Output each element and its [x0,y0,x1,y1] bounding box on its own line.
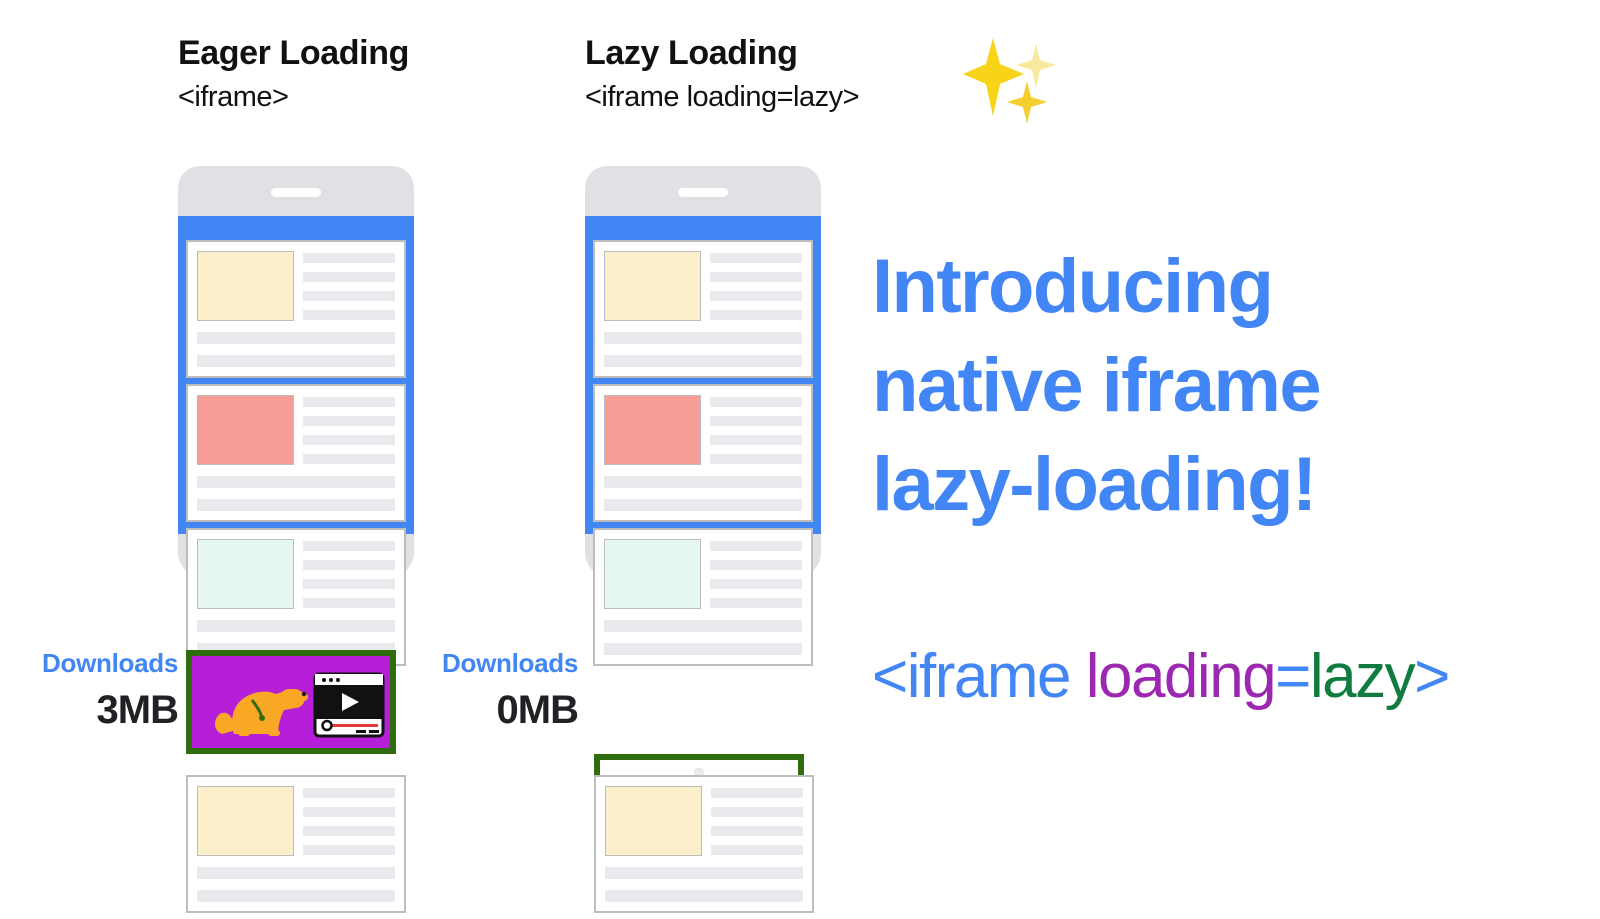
column-heading-lazy: Lazy Loading <iframe loading=lazy> [585,36,859,114]
loaded-iframe-graphic [192,656,390,748]
article-card [186,384,406,522]
eager-title: Eager Loading [178,36,409,72]
article-card-list-below [186,775,406,919]
code-tag-open: <iframe [872,642,1070,711]
article-card-list [186,240,406,672]
article-card [186,528,406,666]
lazy-code: <iframe loading=lazy> [585,82,859,114]
article-thumbnail [197,251,294,321]
article-card [593,528,813,666]
iframe-content-eager[interactable] [186,650,396,754]
phone-speaker-icon [678,188,728,197]
article-text-lines [710,539,802,609]
article-text-lines [303,251,395,321]
article-thumbnail [604,395,701,465]
article-card [594,775,814,913]
article-text-lines [710,395,802,465]
article-text-lines [710,251,802,321]
article-thumbnail [604,251,701,321]
article-card [186,775,406,913]
downloads-value: 0MB [400,690,578,730]
code-snippet: <iframe loading=lazy> [872,641,1449,712]
article-text-lines [303,539,395,609]
video-player-icon [315,674,383,736]
code-equals: = [1275,642,1310,711]
article-thumbnail [197,539,294,609]
article-thumbnail [605,786,702,856]
illustration-canvas: Eager Loading <iframe> Lazy Loading <ifr… [0,0,1600,919]
article-card-list-below [594,775,814,919]
eager-code: <iframe> [178,82,409,114]
article-card-list [593,240,813,672]
downloads-label: Downloads [0,650,178,676]
downloads-readout-eager: Downloads 3MB [0,650,178,730]
headline-line-3: lazy-loading! [872,436,1532,535]
article-card [186,240,406,378]
downloads-value: 3MB [0,690,178,730]
code-value: lazy [1310,642,1414,711]
lazy-title: Lazy Loading [585,36,859,72]
article-text-lines [303,395,395,465]
column-heading-eager: Eager Loading <iframe> [178,36,409,114]
page-headline: Introducing native iframe lazy-loading! [872,238,1532,534]
article-thumbnail [197,395,294,465]
sparkles-icon [960,30,1065,125]
code-tag-close: > [1414,642,1449,711]
article-text-lines [711,786,803,856]
article-card [593,384,813,522]
article-thumbnail [604,539,701,609]
article-text-lines [303,786,395,856]
article-card [593,240,813,378]
phone-speaker-icon [271,188,321,197]
downloads-label: Downloads [400,650,578,676]
article-thumbnail [197,786,294,856]
downloads-readout-lazy: Downloads 0MB [400,650,578,730]
headline-line-1: Introducing [872,238,1532,337]
code-attribute: loading [1070,642,1275,711]
headline-line-2: native iframe [872,337,1532,436]
